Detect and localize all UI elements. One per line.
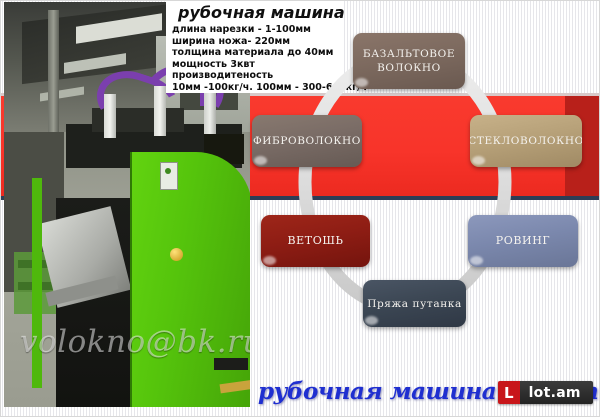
screenshot-root: volokno@bk.ru рубочная машина длина наре…: [0, 0, 600, 417]
photo-machine-label: [160, 162, 178, 190]
process-box-label: ВЕТОШЬ: [287, 234, 343, 248]
spec-title: рубочная машина: [178, 4, 338, 22]
cycle-ring-arc: [305, 56, 505, 308]
logo-text: lot.am: [520, 381, 593, 404]
process-box-fibro-fiber[interactable]: ФИБРОВОЛОКНО: [252, 115, 362, 167]
email-watermark: volokno@bk.ru: [20, 324, 250, 360]
photo-pneumatic-cylinder: [154, 86, 166, 136]
spec-line-cut-length: длина нарезки - 1-100мм: [172, 24, 338, 36]
process-box-label: БАЗАЛЬТОВОЕ ВОЛОКНО: [353, 47, 465, 75]
photo-pneumatic-cylinder: [104, 94, 116, 138]
photo-machine-label-dot: [165, 168, 171, 174]
process-box-label: ФИБРОВОЛОКНО: [253, 134, 361, 148]
process-box-basalt-fiber[interactable]: БАЗАЛЬТОВОЕ ВОЛОКНО: [353, 33, 465, 89]
process-box-tangled-yarn[interactable]: Пряжа путанка: [363, 280, 466, 327]
process-box-rags[interactable]: ВЕТОШЬ: [261, 215, 370, 267]
brass-knob-icon: [170, 248, 183, 261]
lot-am-logo[interactable]: L lot.am: [498, 381, 593, 404]
process-box-fiberglass[interactable]: СТЕКЛОВОЛОКНО: [470, 115, 582, 167]
process-box-label: Пряжа путанка: [367, 297, 462, 311]
process-box-label: СТЕКЛОВОЛОКНО: [470, 134, 582, 148]
process-box-roving[interactable]: РОВИНГ: [468, 215, 578, 267]
process-box-label: РОВИНГ: [496, 234, 551, 248]
logo-mark-letter: L: [498, 381, 520, 404]
